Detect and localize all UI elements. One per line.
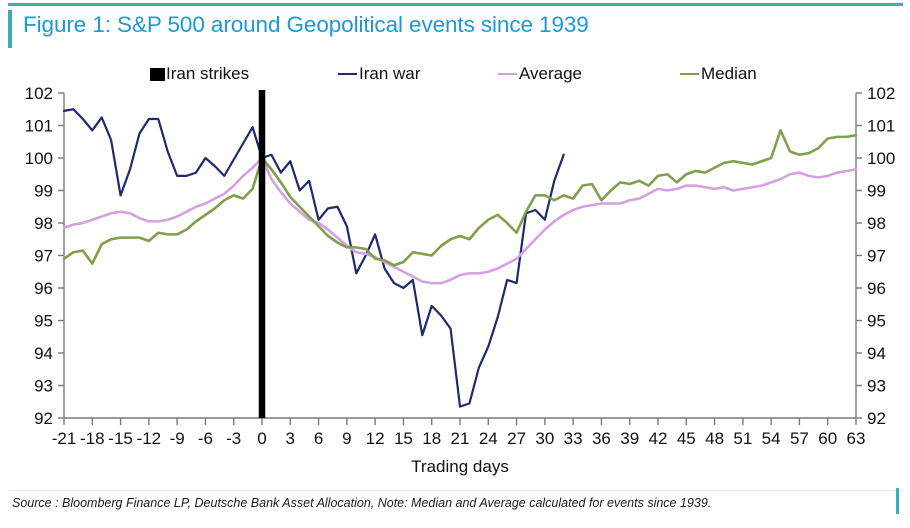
x-tick-label: 39 [620,429,639,448]
x-tick-label: 33 [564,429,583,448]
x-tick-label: 36 [592,429,611,448]
x-tick-label: -18 [80,429,105,448]
x-tick-label: 15 [394,429,413,448]
y-tick-label-left: 93 [34,377,53,396]
y-tick-label-right: 102 [867,84,895,103]
x-tick-label: 0 [257,429,266,448]
source-note: Source : Bloomberg Finance LP, Deutsche … [12,496,711,510]
y-tick-label-left: 100 [25,149,53,168]
x-tick-label: -6 [198,429,213,448]
y-tick-label-left: 94 [34,344,53,363]
bottom-rule [8,490,903,491]
series-line-median [64,130,856,265]
x-tick-label: -3 [226,429,241,448]
x-axis-title: Trading days [411,457,509,476]
chart-svg: 9292939394949595969697979898999910010010… [0,0,910,528]
y-tick-label-right: 101 [867,117,895,136]
y-tick-label-left: 102 [25,84,53,103]
y-tick-label-left: 97 [34,247,53,266]
x-tick-label: 24 [479,429,498,448]
x-tick-label: -15 [108,429,133,448]
x-tick-label: 27 [507,429,526,448]
x-tick-label: 6 [314,429,323,448]
y-tick-label-right: 96 [867,279,886,298]
y-tick-label-left: 95 [34,312,53,331]
y-tick-label-left: 98 [34,214,53,233]
axis-labels-group: 9292939394949595969697979898999910010010… [25,84,896,476]
x-tick-label: 63 [847,429,866,448]
series-line-iran-war [64,109,564,406]
x-tick-label: 21 [451,429,470,448]
x-tick-label: 48 [705,429,724,448]
x-tick-label: 45 [677,429,696,448]
y-tick-label-right: 98 [867,214,886,233]
y-tick-label-left: 96 [34,279,53,298]
y-tick-label-right: 92 [867,409,886,428]
y-tick-label-right: 100 [867,149,895,168]
x-tick-label: 3 [286,429,295,448]
x-tick-label: -9 [170,429,185,448]
y-tick-label-left: 99 [34,182,53,201]
axes-group [58,93,862,425]
x-tick-label: 54 [762,429,781,448]
x-tick-label: 9 [342,429,351,448]
series-group [64,109,856,406]
x-tick-label: 51 [733,429,752,448]
x-tick-label: 42 [649,429,668,448]
y-tick-label-right: 94 [867,344,886,363]
x-tick-label: 60 [818,429,837,448]
x-tick-label: 12 [366,429,385,448]
y-tick-label-left: 92 [34,409,53,428]
x-tick-label: 30 [535,429,554,448]
x-tick-label: -12 [137,429,162,448]
y-tick-label-right: 95 [867,312,886,331]
chart-plot-area: 9292939394949595969697979898999910010010… [0,0,910,528]
right-accent-bar [896,488,899,514]
x-tick-label: 57 [790,429,809,448]
y-tick-label-right: 97 [867,247,886,266]
x-tick-label: -21 [52,429,77,448]
y-tick-label-left: 101 [25,117,53,136]
y-tick-label-right: 93 [867,377,886,396]
y-tick-label-right: 99 [867,182,886,201]
x-tick-label: 18 [422,429,441,448]
